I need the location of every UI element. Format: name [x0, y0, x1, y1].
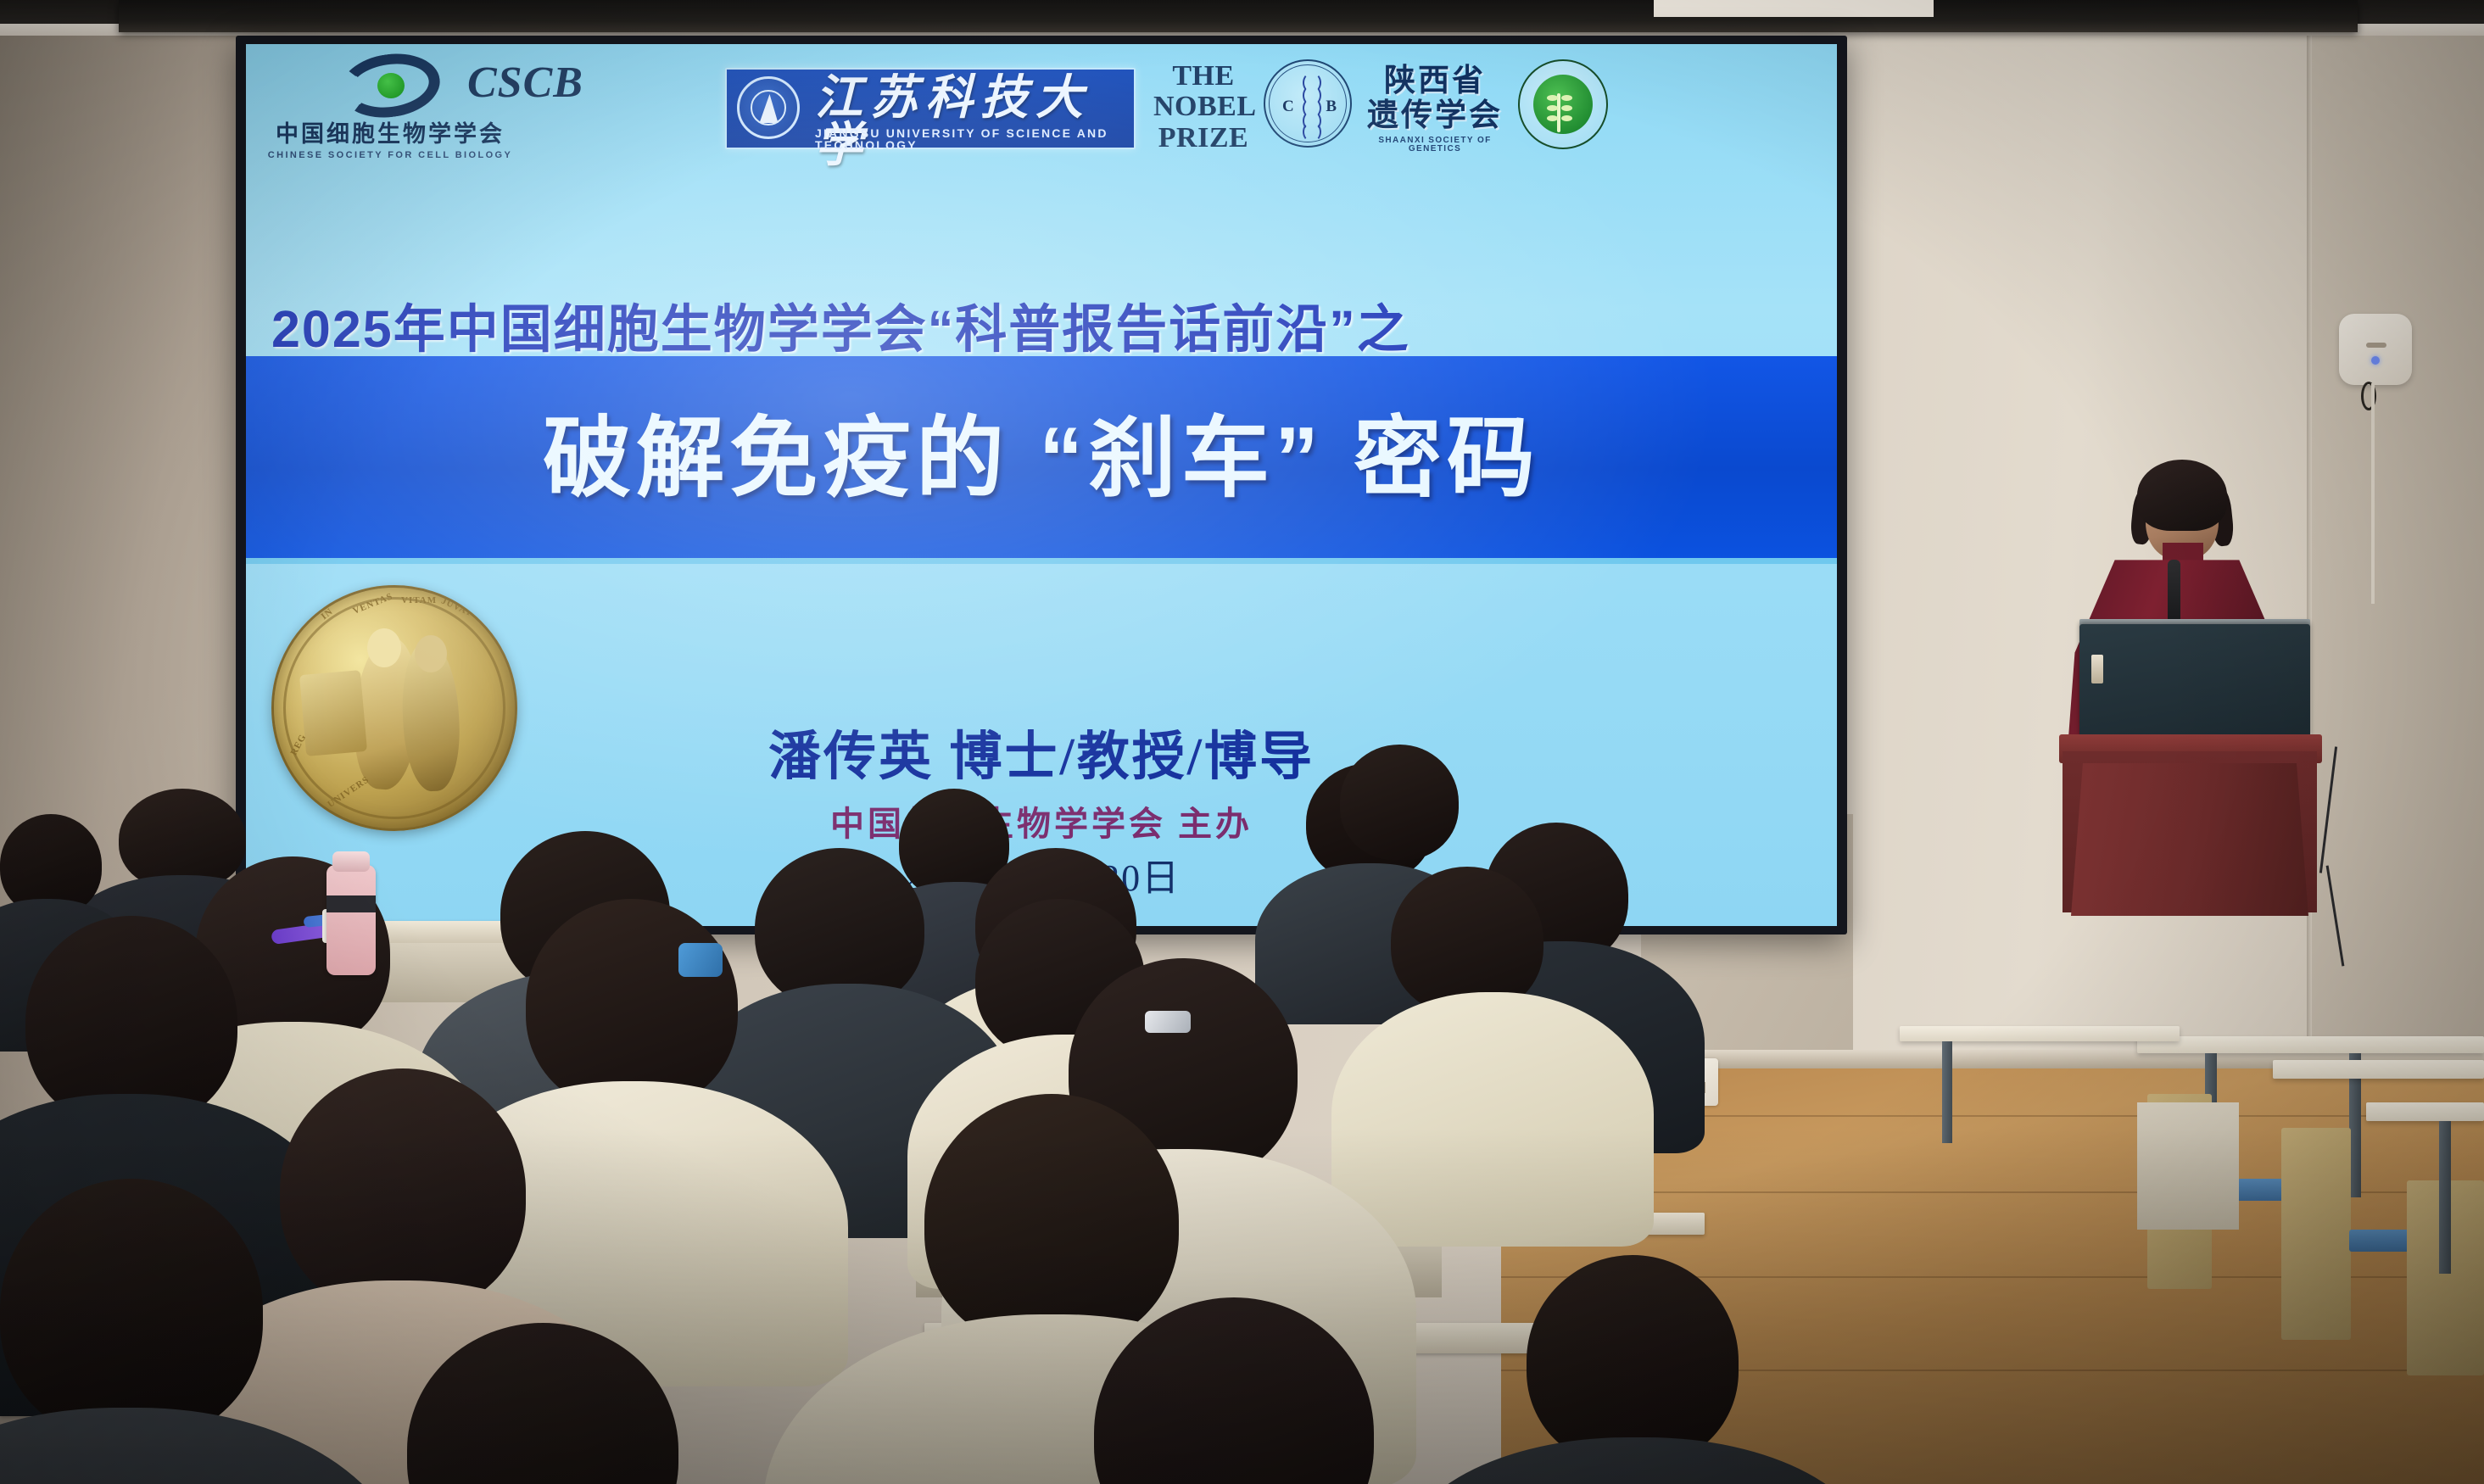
- wifi-ap-cable: [2371, 383, 2375, 604]
- nobel-line-3: PRIZE: [1153, 123, 1253, 153]
- slide-logo-row: CSCB 中国细胞生物学学会 CHINESE SOCIETY FOR CELL …: [246, 44, 1837, 201]
- wifi-access-point: [2339, 314, 2412, 385]
- desk-leg: [1942, 1041, 1952, 1143]
- microphone: [2168, 560, 2180, 626]
- desk-panel: [2137, 1102, 2239, 1230]
- projection-screen: CSCB 中国细胞生物学学会 CHINESE SOCIETY FOR CELL …: [246, 44, 1837, 926]
- shaanxi-genetics-line-2: 遗传学会: [1364, 98, 1506, 132]
- cscb-chinese-name: 中国细胞生物学学会: [263, 120, 517, 148]
- far-right-wall: [2312, 0, 2484, 1187]
- slide-speaker-name: 潘传英 博士/教授/博导: [246, 731, 1837, 784]
- classroom-chair-back: [2281, 1128, 2351, 1340]
- laptop-on-lectern: [2079, 624, 2310, 738]
- nobel-medal-inscription: IN VENTAS VITAM JUVAT EXCOL REG UNIVERS: [274, 588, 515, 828]
- jiangsu-university-english-name: JIANGSU UNIVERSITY OF SCIENCE AND TECHNO…: [815, 127, 1134, 151]
- classroom-desk-mid: [1900, 1026, 2180, 1041]
- cscb-english-name: CHINESE SOCIETY FOR CELL BIOLOGY: [263, 150, 517, 161]
- northwest-agriculture-university-logo: [1518, 59, 1608, 149]
- nobel-line-2: NOBEL: [1153, 92, 1253, 122]
- shaanxi-genetics-logo: 陕西省 遗传学会 SHAANXI SOCIETY OF GENETICS: [1364, 63, 1506, 153]
- jiangsu-university-logo: 江苏科技大学 JIANGSU UNIVERSITY OF SCIENCE AND…: [725, 68, 1136, 149]
- water-bottle-band: [327, 895, 376, 912]
- jiangsu-university-seal-icon: [737, 76, 800, 139]
- slide-headline-pre-text: 2025年中国细胞生物学学会“科普报告话前沿”之: [271, 300, 1410, 358]
- wheat-emblem-icon: [1533, 75, 1593, 134]
- classroom-desk-right: [2366, 1102, 2484, 1121]
- dna-helix-icon: [1303, 73, 1318, 137]
- hair-clip: [1145, 1011, 1191, 1033]
- slide-title-band: 破解免疫的 “刹车” 密码: [246, 356, 1837, 561]
- lectern-body: [2071, 763, 2308, 916]
- cscb-letters: CSCB: [467, 61, 583, 105]
- nobel-medal-image: IN VENTAS VITAM JUVAT EXCOL REG UNIVERS: [271, 585, 517, 831]
- water-bottle: [327, 865, 376, 975]
- nobel-line-1: THE: [1153, 61, 1253, 92]
- cscb-logo: CSCB 中国细胞生物学学会 CHINESE SOCIETY FOR CELL …: [263, 54, 517, 190]
- slide-headline-pre: 2025年中国细胞生物学学会“科普报告话前沿”之: [246, 298, 1837, 360]
- jiangsu-university-chinese-name: 江苏科技大学: [815, 75, 1134, 170]
- csb-letter-c: C: [1282, 98, 1294, 114]
- hair-clip: [678, 943, 723, 977]
- csb-letter-b: B: [1326, 98, 1337, 114]
- cscb-cell-icon: CSCB: [340, 54, 440, 117]
- slide-title-text: 破解免疫的 “刹车” 密码: [543, 415, 1540, 503]
- lecture-hall-photo: CSCB 中国细胞生物学学会 CHINESE SOCIETY FOR CELL …: [0, 0, 2484, 1484]
- shaanxi-cell-biology-logo: C B: [1264, 59, 1352, 148]
- ceiling-beam: [119, 0, 2358, 32]
- ceiling-beam-light-segment: [1654, 0, 1934, 17]
- shaanxi-genetics-line-1: 陕西省: [1364, 63, 1506, 98]
- laptop-latch: [2091, 655, 2103, 683]
- wifi-ap-led-icon: [2371, 356, 2380, 365]
- presenter-hair: [2137, 460, 2227, 531]
- nobel-prize-logo: THE NOBEL PRIZE: [1153, 61, 1253, 153]
- classroom-desk-back: [2137, 1036, 2484, 1053]
- wifi-ap-slot: [2366, 343, 2386, 348]
- slide-band-edge: [246, 558, 1837, 564]
- desk-leg: [2439, 1121, 2451, 1274]
- water-bottle-cap: [332, 851, 370, 872]
- shaanxi-genetics-english: SHAANXI SOCIETY OF GENETICS: [1364, 137, 1506, 153]
- classroom-desk-front: [2273, 1060, 2484, 1079]
